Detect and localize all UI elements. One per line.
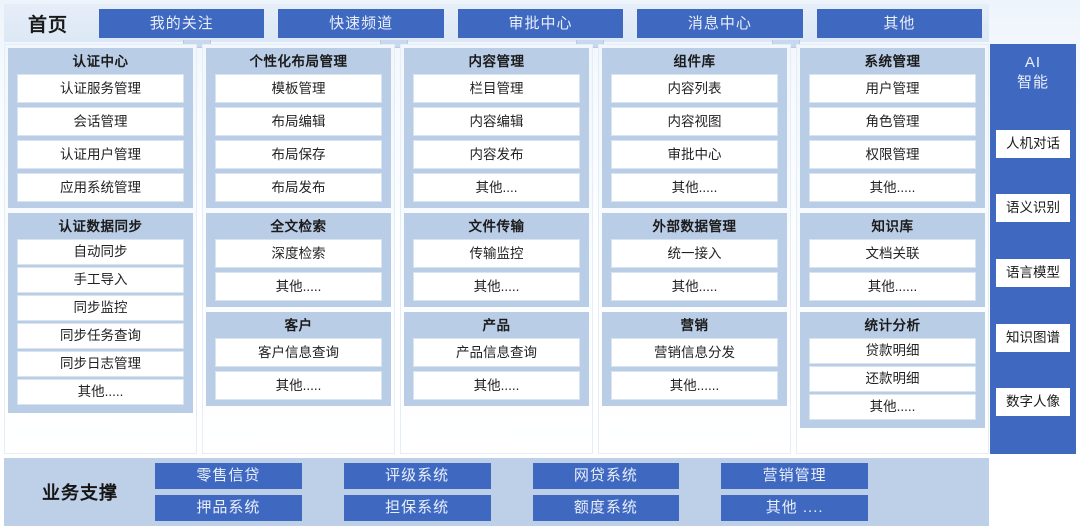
menu-item[interactable]: 其他..... bbox=[413, 371, 580, 400]
group-title: 内容管理 bbox=[413, 51, 580, 74]
column-authentication: 认证中心 认证服务管理 会话管理 认证用户管理 应用系统管理 认证数据同步 自动… bbox=[4, 44, 197, 454]
group-personalized-layout: 个性化布局管理 模板管理 布局编辑 布局保存 布局发布 bbox=[206, 48, 391, 208]
group-statistical-analysis: 统计分析 贷款明细 还款明细 其他..... bbox=[800, 312, 985, 428]
group-title: 产品 bbox=[413, 315, 580, 338]
tab-message-center[interactable]: 消息中心 bbox=[637, 9, 802, 38]
group-title: 统计分析 bbox=[809, 315, 976, 338]
ai-rail-title: AI 智能 bbox=[1017, 45, 1049, 93]
menu-item[interactable]: 模板管理 bbox=[215, 74, 382, 103]
group-title: 客户 bbox=[215, 315, 382, 338]
menu-item[interactable]: 内容列表 bbox=[611, 74, 778, 103]
group-title: 营销 bbox=[611, 315, 778, 338]
menu-item[interactable]: 认证服务管理 bbox=[17, 74, 184, 103]
system-online-loan[interactable]: 网贷系统 bbox=[533, 463, 680, 489]
menu-item[interactable]: 其他.... bbox=[413, 173, 580, 202]
module-columns: 认证中心 认证服务管理 会话管理 认证用户管理 应用系统管理 认证数据同步 自动… bbox=[4, 44, 989, 454]
group-file-transfer: 文件传输 传输监控 其他..... bbox=[404, 213, 589, 307]
system-marketing-management[interactable]: 营销管理 bbox=[721, 463, 868, 489]
menu-item[interactable]: 统一接入 bbox=[611, 239, 778, 268]
group-title: 全文检索 bbox=[215, 216, 382, 239]
menu-item[interactable]: 深度检索 bbox=[215, 239, 382, 268]
ai-rail-title-line2: 智能 bbox=[1017, 73, 1049, 93]
menu-item[interactable]: 内容编辑 bbox=[413, 107, 580, 136]
group-title: 认证中心 bbox=[17, 51, 184, 74]
tab-my-focus[interactable]: 我的关注 bbox=[99, 9, 264, 38]
group-title: 文件传输 bbox=[413, 216, 580, 239]
group-auth-data-sync: 认证数据同步 自动同步 手工导入 同步监控 同步任务查询 同步日志管理 其他..… bbox=[8, 213, 193, 413]
column-components-external-marketing: 组件库 内容列表 内容视图 审批中心 其他..... 外部数据管理 统一接入 其… bbox=[598, 44, 791, 454]
group-fulltext-search: 全文检索 深度检索 其他..... bbox=[206, 213, 391, 307]
system-other[interactable]: 其他 .... bbox=[721, 495, 868, 521]
column-content-file-product: 内容管理 栏目管理 内容编辑 内容发布 其他.... 文件传输 传输监控 其他.… bbox=[400, 44, 593, 454]
ai-item-knowledge-graph[interactable]: 知识图谱 bbox=[996, 324, 1070, 352]
menu-item[interactable]: 传输监控 bbox=[413, 239, 580, 268]
menu-item[interactable]: 自动同步 bbox=[17, 239, 184, 265]
menu-item[interactable]: 会话管理 bbox=[17, 107, 184, 136]
menu-item[interactable]: 布局保存 bbox=[215, 140, 382, 169]
system-credit-limit[interactable]: 额度系统 bbox=[533, 495, 680, 521]
menu-item[interactable]: 其他...... bbox=[611, 371, 778, 400]
business-support-bar: 业务支撑 零售信贷 评级系统 网贷系统 营销管理 押品系统 担保系统 额度系统 … bbox=[4, 458, 989, 526]
ai-rail: AI 智能 人机对话 语义识别 语言模型 知识图谱 数字人像 bbox=[990, 44, 1076, 454]
menu-item[interactable]: 布局编辑 bbox=[215, 107, 382, 136]
group-marketing: 营销 营销信息分发 其他...... bbox=[602, 312, 787, 406]
group-title: 知识库 bbox=[809, 216, 976, 239]
tab-other[interactable]: 其他 bbox=[817, 9, 982, 38]
tab-home[interactable]: 首页 bbox=[4, 10, 92, 37]
group-customer: 客户 客户信息查询 其他..... bbox=[206, 312, 391, 406]
menu-item[interactable]: 其他..... bbox=[17, 379, 184, 405]
tab-quick-channel[interactable]: 快速频道 bbox=[278, 9, 443, 38]
menu-item[interactable]: 其他...... bbox=[809, 272, 976, 301]
group-auth-center: 认证中心 认证服务管理 会话管理 认证用户管理 应用系统管理 bbox=[8, 48, 193, 208]
menu-item[interactable]: 其他..... bbox=[809, 173, 976, 202]
group-knowledge-base: 知识库 文档关联 其他...... bbox=[800, 213, 985, 307]
menu-item[interactable]: 布局发布 bbox=[215, 173, 382, 202]
system-rating[interactable]: 评级系统 bbox=[344, 463, 491, 489]
menu-item[interactable]: 同步任务查询 bbox=[17, 323, 184, 349]
group-product: 产品 产品信息查询 其他..... bbox=[404, 312, 589, 406]
menu-item[interactable]: 产品信息查询 bbox=[413, 338, 580, 367]
menu-item[interactable]: 贷款明细 bbox=[809, 338, 976, 364]
group-title: 组件库 bbox=[611, 51, 778, 74]
column-system-knowledge-statistics: 系统管理 用户管理 角色管理 权限管理 其他..... 知识库 文档关联 其他.… bbox=[796, 44, 989, 454]
menu-item[interactable]: 营销信息分发 bbox=[611, 338, 778, 367]
portal-architecture-page: 首页 我的关注 快速频道 审批中心 消息中心 其他 认证中心 认证服务管理 会话… bbox=[0, 0, 1080, 532]
menu-item[interactable]: 权限管理 bbox=[809, 140, 976, 169]
ai-item-digital-portrait[interactable]: 数字人像 bbox=[996, 388, 1070, 416]
ai-item-language-model[interactable]: 语言模型 bbox=[996, 259, 1070, 287]
menu-item[interactable]: 内容视图 bbox=[611, 107, 778, 136]
system-retail-credit[interactable]: 零售信贷 bbox=[155, 463, 302, 489]
group-title: 外部数据管理 bbox=[611, 216, 778, 239]
menu-item[interactable]: 客户信息查询 bbox=[215, 338, 382, 367]
menu-item[interactable]: 内容发布 bbox=[413, 140, 580, 169]
menu-item[interactable]: 还款明细 bbox=[809, 366, 976, 392]
column-layout-search-customer: 个性化布局管理 模板管理 布局编辑 布局保存 布局发布 全文检索 深度检索 其他… bbox=[202, 44, 395, 454]
menu-item[interactable]: 栏目管理 bbox=[413, 74, 580, 103]
menu-item[interactable]: 其他..... bbox=[611, 173, 778, 202]
menu-item[interactable]: 同步监控 bbox=[17, 295, 184, 321]
menu-item[interactable]: 其他..... bbox=[215, 272, 382, 301]
menu-item[interactable]: 其他..... bbox=[809, 394, 976, 420]
menu-item[interactable]: 文档关联 bbox=[809, 239, 976, 268]
tab-approval-center[interactable]: 审批中心 bbox=[458, 9, 623, 38]
menu-item[interactable]: 其他..... bbox=[611, 272, 778, 301]
menu-item[interactable]: 其他..... bbox=[215, 371, 382, 400]
system-collateral[interactable]: 押品系统 bbox=[155, 495, 302, 521]
menu-item[interactable]: 认证用户管理 bbox=[17, 140, 184, 169]
ai-item-semantic-recognition[interactable]: 语义识别 bbox=[996, 194, 1070, 222]
group-title: 认证数据同步 bbox=[17, 216, 184, 239]
ai-item-human-machine-dialog[interactable]: 人机对话 bbox=[996, 130, 1070, 158]
system-guarantee[interactable]: 担保系统 bbox=[344, 495, 491, 521]
group-title: 个性化布局管理 bbox=[215, 51, 382, 74]
menu-item[interactable]: 用户管理 bbox=[809, 74, 976, 103]
ai-rail-title-line1: AI bbox=[1017, 53, 1049, 73]
group-external-data-management: 外部数据管理 统一接入 其他..... bbox=[602, 213, 787, 307]
menu-item[interactable]: 同步日志管理 bbox=[17, 351, 184, 377]
menu-item[interactable]: 手工导入 bbox=[17, 267, 184, 293]
top-tab-bar: 首页 我的关注 快速频道 审批中心 消息中心 其他 bbox=[4, 4, 989, 42]
menu-item[interactable]: 其他..... bbox=[413, 272, 580, 301]
group-component-library: 组件库 内容列表 内容视图 审批中心 其他..... bbox=[602, 48, 787, 208]
business-support-label: 业务支撑 bbox=[5, 479, 155, 505]
group-title: 系统管理 bbox=[809, 51, 976, 74]
menu-item[interactable]: 审批中心 bbox=[611, 140, 778, 169]
menu-item[interactable]: 应用系统管理 bbox=[17, 173, 184, 202]
business-support-systems: 零售信贷 评级系统 网贷系统 营销管理 押品系统 担保系统 额度系统 其他 ..… bbox=[155, 463, 988, 521]
menu-item[interactable]: 角色管理 bbox=[809, 107, 976, 136]
group-system-management: 系统管理 用户管理 角色管理 权限管理 其他..... bbox=[800, 48, 985, 208]
group-content-management: 内容管理 栏目管理 内容编辑 内容发布 其他.... bbox=[404, 48, 589, 208]
